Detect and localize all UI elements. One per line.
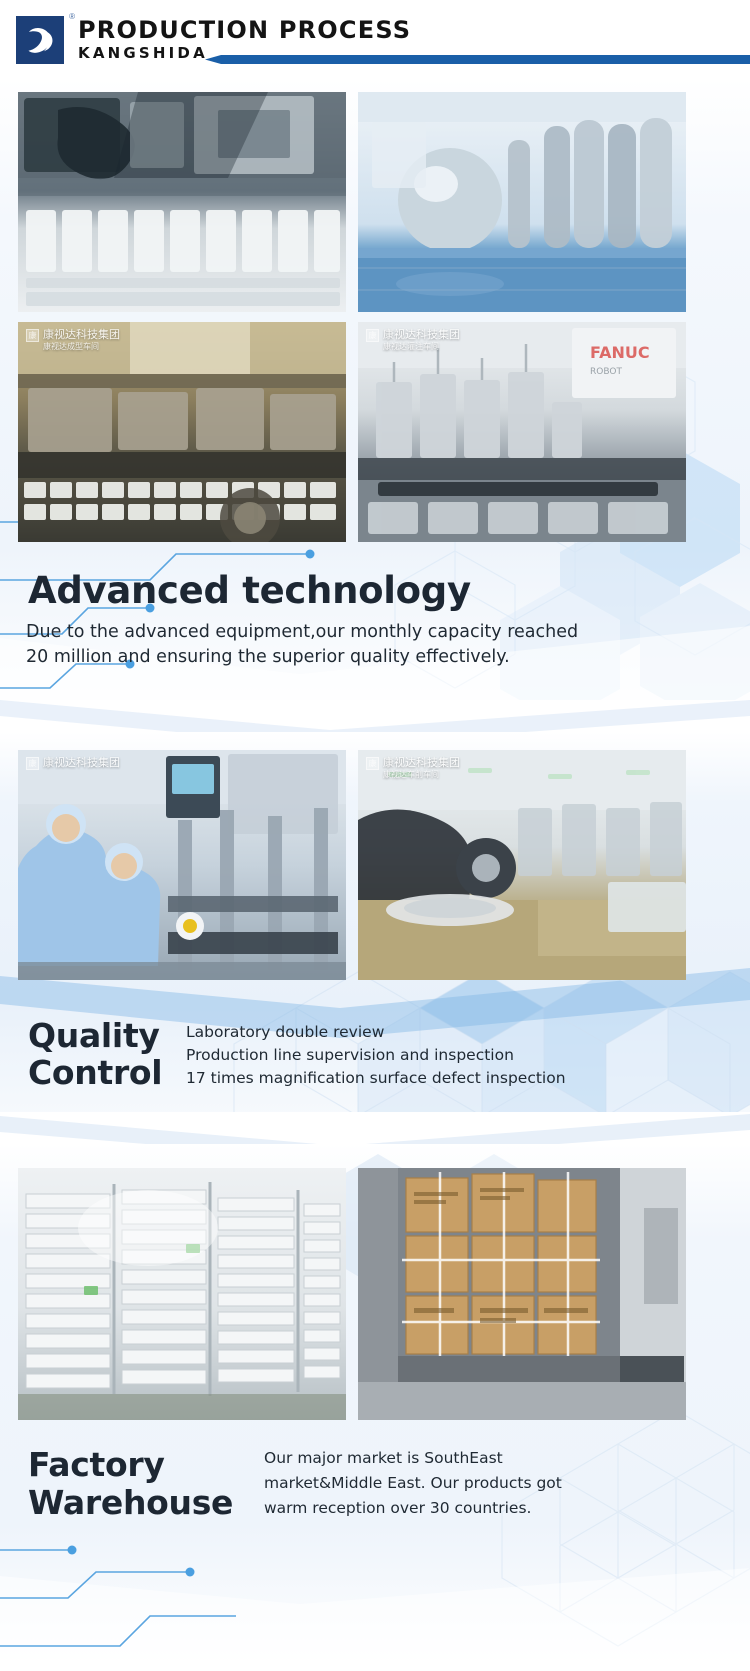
paragraph-factory-warehouse: Our major market is SouthEast market&Mid…: [264, 1446, 562, 1521]
photo-lens-turning-workshop: 康 康视达科技集团 康视达车削车间: [358, 750, 686, 980]
section-quality-control: 康 康视达科技集团: [0, 732, 750, 1124]
svg-text:FANUC: FANUC: [590, 343, 650, 362]
photo-lens-perfusion-workshop: FANUC ROBOT: [358, 322, 686, 542]
paragraph-line: Production line supervision and inspecti…: [186, 1044, 566, 1067]
production-process-page: ® PRODUCTION PROCESS KANGSHIDA: [0, 0, 750, 1671]
photo-shipping-container-loading-cartons: [358, 1168, 686, 1420]
watermark-workshop: 康视达车削车间: [383, 771, 460, 780]
quality-control-photo-grid: 康 康视达科技集团: [0, 732, 750, 992]
heading-line: Quality: [28, 1018, 162, 1055]
watermark-workshop: 康视达成型车间: [43, 343, 120, 352]
heading-line: Factory: [28, 1446, 233, 1484]
paragraph-line: Laboratory double review: [186, 1021, 566, 1044]
watermark-badge-icon: 康: [26, 329, 39, 342]
watermark-company: 康视达科技集团: [383, 329, 460, 341]
paragraph-line: 20 million and ensuring the superior qua…: [26, 645, 578, 670]
watermark-badge-icon: 康: [26, 757, 39, 770]
paragraph-line: 17 times magnification surface defect in…: [186, 1067, 566, 1090]
watermark-workshop: 康视达灌注车间: [383, 343, 460, 352]
heading-line: Control: [28, 1055, 162, 1092]
heading-quality-control: Quality Control: [28, 1018, 162, 1092]
svg-text:ROBOT: ROBOT: [590, 367, 622, 377]
photo-robotic-arm-assembly-line: [18, 92, 346, 312]
watermark-company: 康视达科技集团: [43, 757, 120, 769]
paragraph-line: Our major market is SouthEast: [264, 1446, 562, 1471]
circuit-line-decoration: [0, 1524, 420, 1671]
paragraph-line: Due to the advanced equipment,our monthl…: [26, 620, 578, 645]
page-header: ® PRODUCTION PROCESS KANGSHIDA: [0, 0, 750, 78]
factory-warehouse-photo-grid: [0, 1144, 750, 1424]
photo-stainless-steel-water-treatment-tanks: [358, 92, 686, 312]
photo-watermark: 康 康视达科技集团: [26, 757, 120, 770]
brand-name: KANGSHIDA: [78, 46, 208, 61]
watermark-badge-icon: 康: [366, 329, 379, 342]
photo-watermark: 康 康视达科技集团 康视达车削车间: [366, 757, 460, 780]
photo-technicians-inspecting-equipment: 康 康视达科技集团: [18, 750, 346, 980]
header-rule: [205, 55, 750, 64]
paragraph-advanced-technology: Due to the advanced equipment,our monthl…: [26, 620, 578, 671]
kangshida-shell-logo-icon: ®: [16, 16, 64, 64]
watermark-company: 康视达科技集团: [383, 757, 460, 769]
page-title: PRODUCTION PROCESS: [78, 18, 411, 43]
section-advanced-technology: 康 康视达科技集团 康视达成型车间: [0, 78, 750, 728]
registered-mark: ®: [69, 13, 75, 21]
paragraph-line: market&Middle East. Our products got: [264, 1471, 562, 1496]
photo-lens-molding-workshop: 康 康视达科技集团 康视达成型车间: [18, 322, 346, 542]
advanced-technology-photo-grid: 康 康视达科技集团 康视达成型车间: [0, 78, 750, 548]
heading-factory-warehouse: Factory Warehouse: [28, 1446, 233, 1521]
paragraph-line: warm reception over 30 countries.: [264, 1496, 562, 1521]
paragraph-quality-control: Laboratory double review Production line…: [186, 1021, 566, 1090]
photo-warehouse-storage-racks: [18, 1168, 346, 1420]
heading-line: Warehouse: [28, 1484, 233, 1522]
heading-advanced-technology: Advanced technology: [28, 572, 471, 609]
section-factory-warehouse: Factory Warehouse Our major market is So…: [0, 1144, 750, 1671]
photo-watermark: 康 康视达科技集团 康视达成型车间: [26, 329, 120, 352]
photo-watermark: 康 康视达科技集团 康视达灌注车间: [366, 329, 460, 352]
watermark-badge-icon: 康: [366, 757, 379, 770]
watermark-company: 康视达科技集团: [43, 329, 120, 341]
